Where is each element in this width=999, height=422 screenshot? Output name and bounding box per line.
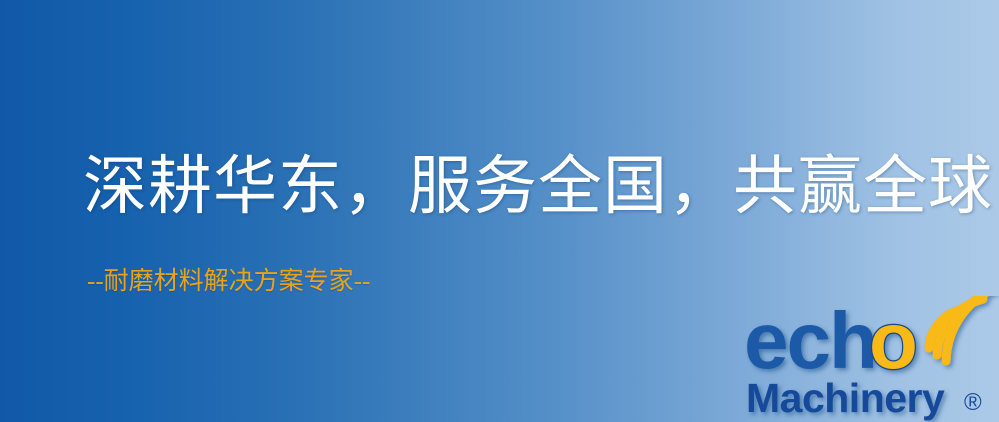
logo-wordmark-ech: ech (744, 296, 876, 385)
promo-banner: 深耕华东，服务全国，共赢全球 --耐磨材料解决方案专家-- ech o Mach… (0, 0, 999, 422)
registered-trademark-icon: ® (964, 389, 982, 416)
company-logo: ech o Machinery ® (742, 296, 999, 422)
signal-waves-icon (929, 296, 997, 361)
logo-wordmark-o: o (869, 296, 918, 385)
page-subtitle: --耐磨材料解决方案专家-- (87, 268, 370, 296)
echo-machinery-logo-svg: ech o Machinery ® (742, 296, 999, 422)
logo-tagline: Machinery (746, 375, 945, 421)
page-title: 深耕华东，服务全国，共赢全球 (83, 155, 993, 219)
signal-arc-outer (946, 296, 997, 361)
